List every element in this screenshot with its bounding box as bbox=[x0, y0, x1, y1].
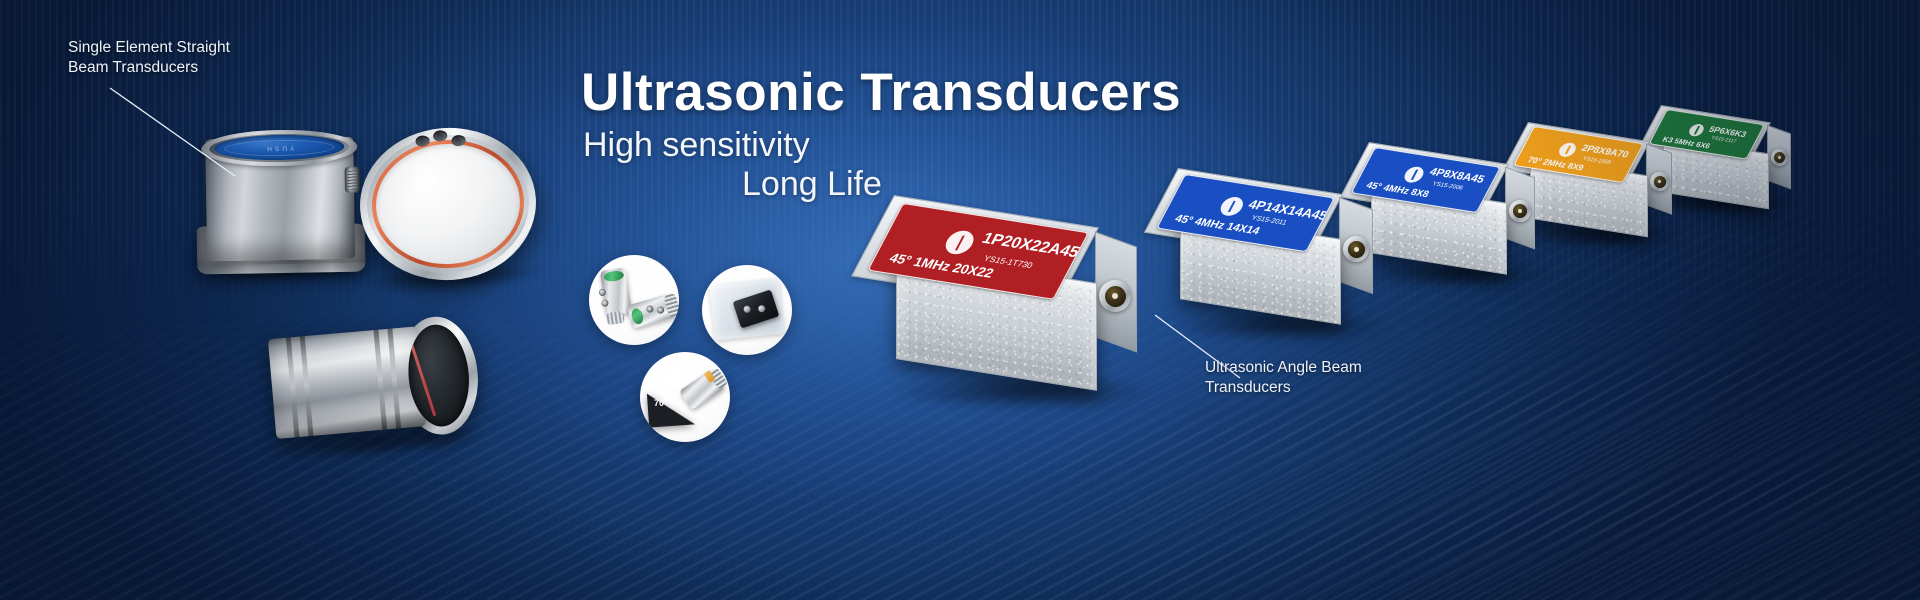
cylindrical-transducer: YUSH bbox=[191, 110, 370, 268]
connector-pin bbox=[1518, 209, 1522, 213]
connector-holes bbox=[415, 128, 477, 158]
connector-pin bbox=[1658, 180, 1662, 184]
promo-banner: YUSH bbox=[0, 0, 1920, 600]
callout-left-line2: Beam Transducers bbox=[68, 58, 230, 78]
thumbnail-dual-element-probes bbox=[589, 255, 679, 345]
coaxial-connector bbox=[1771, 149, 1788, 166]
face-label-text: YUSH bbox=[264, 144, 294, 152]
connector-pin bbox=[1112, 293, 1118, 299]
connector-pin bbox=[1354, 247, 1359, 252]
angle-beam-transducer-blue-1: 4P14X14A45 YS15-2011 45° 4MHz 14X14 bbox=[1172, 168, 1387, 363]
connector-pin bbox=[1778, 156, 1781, 159]
connector-hole bbox=[451, 135, 466, 147]
knurled-nut bbox=[606, 311, 625, 325]
connector-port bbox=[601, 299, 609, 307]
connector-hole bbox=[433, 130, 448, 142]
coaxial-connector bbox=[1099, 280, 1131, 312]
disc-transducer bbox=[355, 122, 541, 286]
knurled-ring bbox=[663, 293, 679, 317]
angle-beam-transducer-red: 1P20X22A45 YS15-1T730 45° 1MHz 20X22 bbox=[888, 195, 1153, 440]
callout-right-line1: Ultrasonic Angle Beam bbox=[1205, 358, 1362, 378]
brand-logo-icon bbox=[1401, 165, 1426, 183]
subtitle-long-life: Long Life bbox=[742, 165, 882, 204]
coaxial-connector bbox=[1650, 172, 1669, 191]
connector-port bbox=[598, 288, 606, 296]
label-spec: 45° 1MHz 20X22 bbox=[887, 251, 997, 281]
dual-probe-horizontal bbox=[627, 293, 678, 329]
subtitle-high-sensitivity: High sensitivity bbox=[583, 126, 810, 165]
label-serial: YS15-2006 bbox=[1431, 181, 1464, 191]
connector-socket bbox=[1513, 204, 1527, 218]
coaxial-connector bbox=[1343, 236, 1369, 262]
connector-port bbox=[646, 305, 655, 314]
callout-angle-beam: Ultrasonic Angle Beam Transducers bbox=[1205, 358, 1362, 398]
brand-logo-icon bbox=[1687, 123, 1706, 137]
connector-socket bbox=[1348, 241, 1365, 258]
page-title: Ultrasonic Transducers bbox=[581, 62, 1181, 123]
brand-logo-icon bbox=[1217, 196, 1247, 218]
connector-port bbox=[656, 306, 665, 315]
connector-port bbox=[743, 305, 752, 314]
callout-left-line1: Single Element Straight bbox=[68, 38, 230, 58]
connector-socket bbox=[1654, 176, 1666, 188]
connector-socket bbox=[1105, 286, 1126, 307]
coaxial-connector bbox=[1509, 200, 1531, 222]
connector-socket bbox=[1774, 152, 1785, 163]
wedge-angle-label: 70° bbox=[654, 398, 668, 408]
brand-logo-icon bbox=[941, 229, 978, 256]
thumbnail-clear-wedge-probe bbox=[702, 265, 792, 355]
connector-port bbox=[757, 304, 766, 313]
green-face bbox=[630, 307, 645, 325]
brand-logo-icon bbox=[1556, 142, 1578, 158]
angle-beam-transducer-blue-2: 4P8X8A45 YS15-2006 45° 4MHz 8X8 bbox=[1363, 142, 1548, 307]
horizontal-transducer bbox=[267, 309, 487, 455]
connector-hole bbox=[415, 135, 430, 147]
thumbnail-angle-wedge-probe: 70° bbox=[640, 352, 730, 442]
callout-right-line2: Transducers bbox=[1205, 378, 1362, 398]
callout-straight-beam: Single Element Straight Beam Transducers bbox=[68, 38, 230, 78]
green-face bbox=[603, 270, 624, 283]
